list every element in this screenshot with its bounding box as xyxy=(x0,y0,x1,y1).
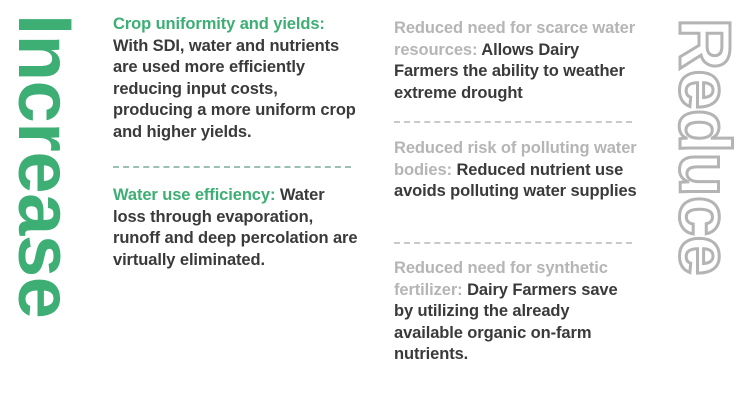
benefit-block-synthetic-fertilizer: Reduced need for synthetic fertilizer: D… xyxy=(394,258,641,366)
section-divider-right-2 xyxy=(394,242,632,244)
benefit-block-water-use-efficiency: Water use efficiency: Water loss through… xyxy=(113,185,360,271)
benefit-paragraph: Crop uniformity and yields: With SDI, wa… xyxy=(113,14,360,143)
benefit-block-crop-uniformity: Crop uniformity and yields: With SDI, wa… xyxy=(113,14,360,143)
benefit-body: With SDI, water and nutrients are used m… xyxy=(113,37,356,141)
benefit-paragraph: Reduced risk of polluting water bodies: … xyxy=(394,138,641,203)
reduce-wordmark: Reduce xyxy=(668,18,740,275)
benefit-paragraph: Reduced need for synthetic fertilizer: D… xyxy=(394,258,641,366)
increase-wordmark: Increase xyxy=(6,14,82,318)
benefit-block-polluting-water-bodies: Reduced risk of polluting water bodies: … xyxy=(394,138,641,203)
section-divider-right-1 xyxy=(394,121,632,123)
section-divider-left-1 xyxy=(113,166,351,168)
benefit-block-scarce-water-resources: Reduced need for scarce water resources:… xyxy=(394,18,641,104)
benefit-heading: Water use efficiency: xyxy=(113,186,275,204)
infographic-page: Increase Crop uniformity and yields: Wit… xyxy=(0,0,750,417)
benefit-paragraph: Water use efficiency: Water loss through… xyxy=(113,185,360,271)
benefit-heading: Crop uniformity and yields: xyxy=(113,15,325,33)
benefit-paragraph: Reduced need for scarce water resources:… xyxy=(394,18,641,104)
